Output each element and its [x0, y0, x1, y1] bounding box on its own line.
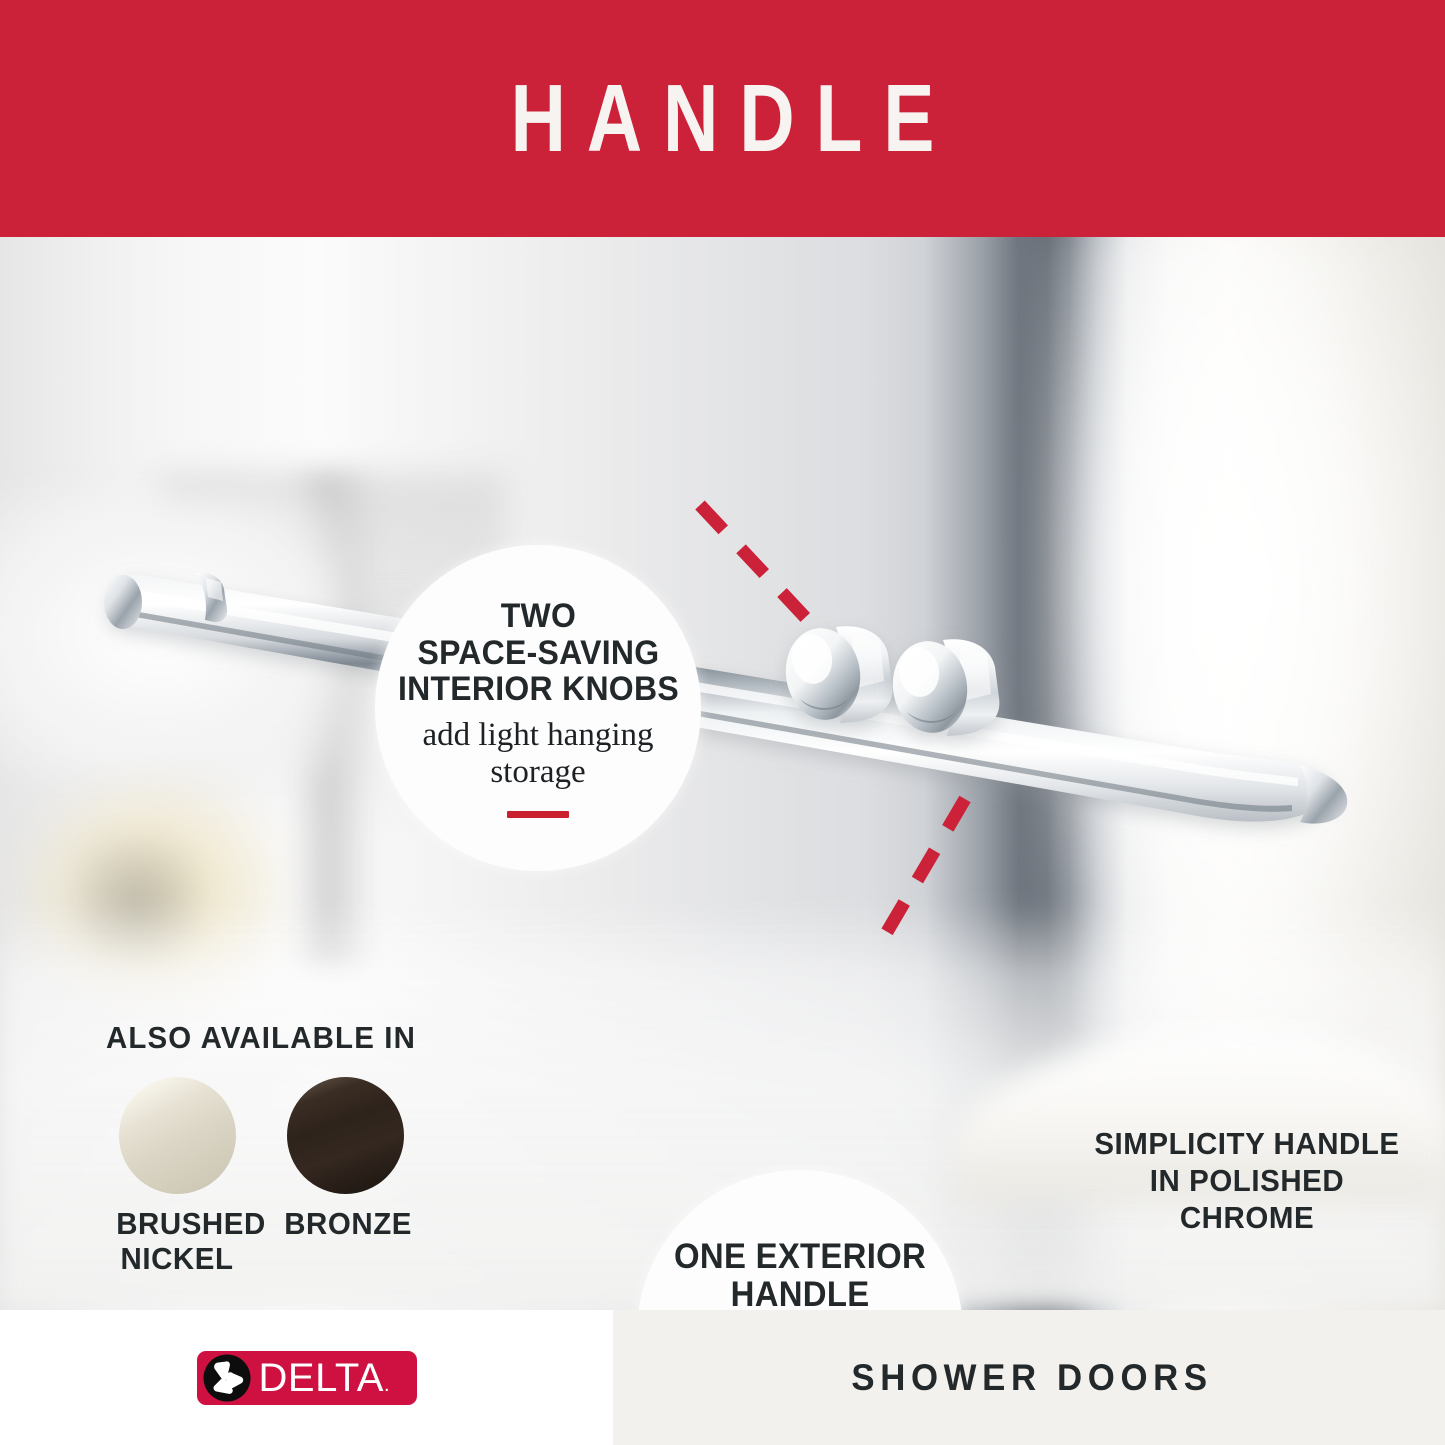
delta-brand-dot: .: [384, 1374, 390, 1396]
callout-headline-line: TWO: [398, 598, 679, 634]
product-caption-line: SIMPLICITY HANDLE: [1090, 1125, 1404, 1162]
swatch-label-line: BRONZE: [284, 1207, 406, 1242]
callout-rule: [507, 811, 569, 818]
swatch-bronze[interactable]: [287, 1077, 404, 1194]
finish-options-row: BRUSHED NICKEL BRONZE: [96, 1077, 426, 1276]
infographic-canvas: HANDLE: [0, 0, 1445, 1445]
delta-logo[interactable]: DELTA.: [197, 1351, 417, 1405]
product-caption: SIMPLICITY HANDLE IN POLISHED CHROME: [1090, 1125, 1404, 1237]
callout-headline: TWO SPACE-SAVING INTERIOR KNOBS: [398, 598, 679, 707]
product-caption-line: CHROME: [1090, 1199, 1404, 1236]
swatch-label: BRONZE: [284, 1207, 406, 1242]
swatch-label-line: BRUSHED: [116, 1207, 238, 1242]
delta-wordmark: DELTA.: [259, 1358, 391, 1398]
handle-left-endcap: [104, 575, 142, 629]
footer-category-area: SHOWER DOORS: [613, 1310, 1445, 1445]
callout-headline: ONE EXTERIOR HANDLE: [674, 1238, 926, 1310]
delta-triangle-icon: [203, 1354, 251, 1402]
finish-options-title: ALSO AVAILABLE IN: [104, 1020, 418, 1056]
product-photo-stage: TWO SPACE-SAVING INTERIOR KNOBS add ligh…: [0, 237, 1445, 1310]
swatch-label: BRUSHED NICKEL: [116, 1207, 238, 1276]
finish-options-block: ALSO AVAILABLE IN BRUSHED NICKEL BRONZE: [96, 1020, 426, 1276]
footer-brand-area: DELTA.: [0, 1310, 613, 1445]
footer-category-text: SHOWER DOORS: [845, 1357, 1212, 1399]
callout-headline-line: HANDLE: [674, 1276, 926, 1310]
callout-headline-line: INTERIOR KNOBS: [398, 671, 679, 707]
swatch-brushed-nickel[interactable]: [119, 1077, 236, 1194]
callout-subtext-line: storage: [423, 754, 654, 791]
finish-option-brushed-nickel[interactable]: BRUSHED NICKEL: [113, 1077, 241, 1276]
callout-subtext: add light hanging storage: [423, 717, 654, 791]
callout-headline-line: SPACE-SAVING: [398, 635, 679, 671]
callout-headline-line: ONE EXTERIOR: [674, 1238, 926, 1275]
delta-brand-text: DELTA: [259, 1356, 385, 1400]
product-caption-line: IN POLISHED: [1090, 1162, 1404, 1199]
callout-subtext-line: add light hanging: [423, 717, 654, 754]
swatch-label-line: NICKEL: [116, 1242, 238, 1277]
callout-bubble-interior-knobs: TWO SPACE-SAVING INTERIOR KNOBS add ligh…: [375, 545, 701, 871]
footer-bar: DELTA. SHOWER DOORS: [0, 1310, 1445, 1445]
header-banner: HANDLE: [0, 0, 1445, 237]
handle-bar: [108, 574, 1331, 821]
page-title: HANDLE: [145, 0, 1301, 237]
finish-option-bronze[interactable]: BRONZE: [281, 1077, 409, 1276]
